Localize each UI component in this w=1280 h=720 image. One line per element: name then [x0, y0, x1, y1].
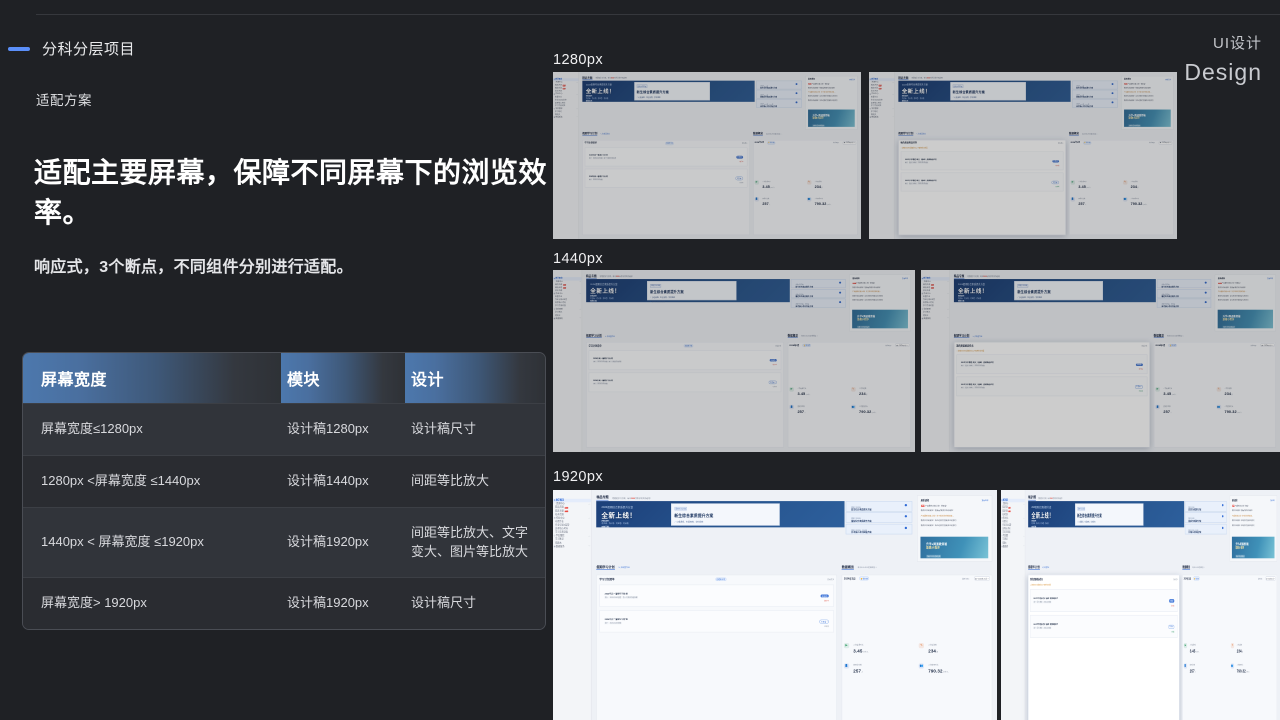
notification-row-2[interactable]: 产品最新功能上线！关于版本的内核功能…	[1232, 514, 1275, 516]
notification-row-2[interactable]: 产品最新功能上线！关于版本的内核功能…	[921, 514, 989, 516]
preview-1440-primary[interactable]: ◈教学概览🗀资源中心︿精品资源限时精选专题限时校本资源▤作业中心︿布置作业作业记…	[553, 270, 915, 452]
notification-row-0[interactable]: NEW产品最新功能上线！快来看！	[808, 83, 855, 85]
notification-row-4[interactable]: 教师节活动来啦！各位老师们!快来各位老师们	[1232, 524, 1275, 526]
grade-select[interactable]: 高一2025年入学﹀	[974, 577, 990, 581]
plan-section-action[interactable]: ✎ 去布置作业	[618, 566, 629, 569]
video-icon: ▶	[1155, 387, 1159, 392]
grade-select[interactable]: 高一2025年入学﹀	[1159, 141, 1172, 144]
app-sidebar[interactable]: ◈教学概览🗀资源中心︿精品资源限时精选专题限时校本资源▤作业中心︿布置作业作业记…	[553, 270, 582, 452]
stat-0: ▶人均看课时长3.45小时/人	[844, 637, 915, 653]
task-meta-item: 2024-11-05创建	[597, 382, 608, 384]
rank-button[interactable]: 🏆排行榜	[1193, 577, 1199, 581]
hero-card-title: 新生综合素质提升方案	[1017, 289, 1100, 294]
hero-card-item-0: ✓心理调适、生涯规划、学科适应	[650, 296, 734, 299]
task-action: 去查看 ›已结束	[736, 173, 744, 184]
overview-month: 2024年3月	[1071, 141, 1081, 144]
sidebar-item-label: 精品资源	[555, 507, 563, 509]
notification-row-0[interactable]: NEW产品最新功能上线！快来看！	[921, 505, 989, 507]
hero-main[interactable]: 2024假期综合素质提升方案全新上线！四有闭环:有资源、有计划、有监管、有反馈网…	[954, 279, 1156, 302]
task-meta: 高一语文（基础）2024-11-05创建	[905, 182, 1049, 184]
notification-row-1[interactable]: 教师节活动来啦！快来看!教师节活动来啦!	[808, 87, 855, 89]
app-sidebar[interactable]: ◈教学概览🗀资源中心︿精品资源限时精选专题限时校本资源▤作业中心︿布置作业作业记…	[1001, 490, 1025, 720]
play-dot-icon	[905, 504, 907, 506]
plan-section-action[interactable]: ✎ 去布置作业	[600, 133, 609, 135]
overview-month: 2024年3月	[1184, 577, 1191, 581]
hero-feature-card[interactable]: 适用于2023级新生综合素质提升方案✓心理调适、生涯规划、学科适应✓高中生活提前…	[634, 82, 710, 100]
hero-main[interactable]: 2024假期综合素质提升方案全新上线！四有闭环:有资源、有计划、有监管、有反馈网…	[1028, 501, 1184, 528]
notification-row-1[interactable]: 教师节活动来啦！快来看!教师节活动来啦!	[852, 286, 908, 288]
task-button[interactable]: 去查看 ›	[1052, 181, 1060, 185]
promo-tag: 功能介绍与使用指南	[1129, 125, 1141, 127]
stat-unit: 人	[1170, 411, 1171, 413]
plan-section-action[interactable]: ✎ 去布置作业	[973, 335, 983, 338]
sidebar-item-13[interactable]: ▦数据服务﹀	[553, 116, 579, 119]
task-meta-item: 高一	[605, 596, 609, 599]
plan-view-more[interactable]: 查看更多	[1142, 345, 1148, 347]
task-row-0[interactable]: 2024年高一暑期学习计划高一2024-11-05创建有一个报告可选择课去创建 …	[585, 147, 748, 166]
task-action: 去挑选 ›未开始	[1169, 594, 1174, 607]
promo-banner[interactable]: 升学e网通教师端助教小程序功能介绍与使用指南	[1124, 109, 1171, 126]
overview-title: 数据概览	[788, 334, 798, 338]
plan-panel-title: 学习计划清单	[589, 344, 602, 347]
plan-view-more[interactable]: 查看更多	[827, 578, 834, 580]
new-badge: NEW	[1218, 282, 1221, 284]
hero-main[interactable]: 2024假期综合素质提升方案全新上线！四有闭环:有资源、有计划、有监管、有反馈网…	[596, 501, 844, 528]
notification-row-3[interactable]: 教师节活动来啦！各位老师们!快来各位老师们	[808, 95, 855, 97]
notifications-view-all[interactable]: 查看全部	[849, 79, 855, 81]
plan-panel-header: 学习计划清单创建新计划查看更多	[589, 344, 782, 347]
plan-view-more[interactable]: 查看更多	[742, 142, 748, 144]
check-icon: ✓	[1017, 301, 1018, 302]
hero-card-item-0: ✓心理调适、生涯规划、学科适应	[953, 96, 1024, 98]
notification-row-4[interactable]: 教师节活动来啦！各位老师们!快来各位老师们	[808, 99, 855, 101]
create-plan-button[interactable]: 创建新计划	[684, 344, 693, 347]
plan-column: 假期学习计划✎ 去布置作业学习计划清单创建新计划查看更多2024年高一暑期学习计…	[582, 132, 749, 235]
plan-header: 假期学习计划✎ 去布置作业	[1028, 565, 1179, 570]
notification-row-1[interactable]: 教师节活动来啦！快来看!教师节活动来啦!	[1232, 510, 1275, 512]
section-label: 适配方案	[36, 89, 548, 109]
hero-card-1[interactable]: 适用于2024级暑假综合素质提升方案	[1157, 289, 1211, 298]
task-button[interactable]: 去查看 ›	[1168, 625, 1174, 629]
hero-feature-card[interactable]: 适用于2023级新生综合素质提升方案✓心理调适、生涯规划、学科适应✓高中生活提前…	[671, 503, 780, 525]
overview-column: 数据概览每天6:00-8:00更新数据 ⓘ2024年3月🏆排行榜选择年级：高一2…	[1182, 565, 1276, 720]
promo-banner[interactable]: 升学e网通教师端助教小程序功能介绍与使用指南	[808, 109, 855, 126]
topic-title: 精品专题	[582, 76, 592, 80]
play-dot-icon	[839, 292, 841, 294]
task-meta-item: 高一	[961, 387, 964, 389]
hero-side-cards: 适用于2023级新生综合素质提升方案适用于2024级暑假综合素质提升方案适用于2…	[756, 80, 802, 102]
hero-card-2[interactable]: 适用于2023级、2024级高考核心考向突破方案	[1072, 99, 1118, 108]
notification-row-0[interactable]: NEW产品最新功能上线！快来看！	[1232, 505, 1275, 507]
task-row-0[interactable]: 2024年高一暑期学习计划高一2024-11-05创建有一个报告可选择课去创建 …	[599, 584, 834, 607]
task-button[interactable]: 去查看 ›	[769, 381, 777, 385]
grade-select-label: 选择年级：	[962, 577, 970, 579]
task-row-0[interactable]: 2024年高一暑期学习计划高一2024-11-05创建有一个报告可选择课去创建 …	[589, 350, 782, 370]
promo-banner[interactable]: 升学e网通教师端助教小程序功能介绍与使用指南	[1232, 537, 1275, 558]
plan-header: 假期学习计划✎ 去布置作业	[954, 334, 1150, 338]
stat-label: 人均答题数	[1237, 643, 1242, 645]
hero-feature-card[interactable]: 适用于2023级新生综合素质提升方案✓心理调适、生涯规划、学科适应✓高中生活提前…	[647, 281, 737, 300]
stat-label: 人均使用时长	[1225, 405, 1234, 407]
notification-row-4[interactable]: 教师节活动来啦！各位老师们!快来各位老师们	[852, 299, 908, 301]
breakpoint-label-1280: 1280px	[553, 52, 603, 68]
stat-unit: 小时/人	[872, 411, 877, 413]
hero-card-2[interactable]: 适用于2023级、2024级高考核心考向突破方案	[1185, 524, 1227, 535]
rank-button[interactable]: 🏆排行榜	[767, 141, 775, 144]
create-plan-button[interactable]: 创建新计划	[665, 142, 674, 145]
grade-select[interactable]: 高一2025年入学﹀	[843, 141, 856, 144]
hero-main[interactable]: 2024假期综合素质提升方案全新上线！四有闭环:有资源、有计划、有监管、有反馈网…	[582, 80, 754, 102]
plan-header: 假期学习计划✎ 去布置作业	[898, 132, 1065, 136]
task-row-0[interactable]: 24-25学年寒假-语文（基础）资源挑选任务高一语文（基础）2024-11-05…	[956, 354, 1147, 374]
sidebar-item-13[interactable]: ▦数据服务﹀	[869, 116, 895, 119]
notifications-view-all[interactable]: 查看全部	[1165, 79, 1171, 81]
hero-card-1[interactable]: 适用于2024级暑假综合素质提升方案	[846, 512, 912, 523]
grade-select[interactable]: 高一2025年入学﹀	[895, 344, 909, 347]
task-row-1[interactable]: 2024年高一暑期学习计划高一2024-11-05创建去查看 ›已结束	[599, 610, 834, 633]
rank-button[interactable]: 🏆排行榜	[859, 577, 869, 581]
preview-1440-secondary[interactable]: ◈教学概览🗀资源中心︿精品资源限时精选专题限时校本资源▤作业中心︿布置作业作业记…	[921, 270, 1280, 452]
overview-header: 数据概览每天6:00-8:00更新数据 ⓘ	[1154, 334, 1276, 338]
notification-row-3[interactable]: 教师节活动来啦！各位老师们!快来各位老师们	[921, 519, 989, 521]
task-button[interactable]: 去挑选 ›	[1169, 599, 1174, 602]
plan-view-more[interactable]: 查看更多	[1058, 142, 1064, 144]
preview-1280-primary[interactable]: ◈教学概览🗀资源中心︿精品资源限时精选专题限时校本资源▤作业中心︿布置作业作业记…	[553, 72, 861, 239]
hero-card-name: 新生综合素质提升方案	[851, 509, 907, 512]
task-button[interactable]: 去挑选 ›	[1053, 160, 1060, 163]
stat-label: 人均答题数	[1225, 388, 1232, 390]
task-status: 已结束	[736, 182, 744, 184]
task-info: 24-25学年寒假-语文（基础）资源挑选任务高一语文（基础）2024-11-05…	[961, 362, 1133, 367]
new-badge: NEW	[808, 83, 811, 85]
overview-stats: ▶人均看课时长3.45小时/人✎人均答题数234题👤使用学生数257人👥人均使用…	[1155, 350, 1274, 446]
hero-card-0[interactable]: 适用于2023级新生综合素质提升方案	[1185, 501, 1227, 512]
sidebar-item-label: 资源中心	[924, 281, 931, 283]
hero-card-0[interactable]: 适用于2023级新生综合素质提升方案	[846, 501, 912, 512]
task-row-0[interactable]: 24-25学年寒假-语文（基础）资源挑选任务高一语文（基础）2024-11-05…	[1030, 589, 1177, 612]
new-badge: NEW	[1232, 505, 1234, 507]
sidebar-item-label: 布置作业	[555, 521, 563, 523]
stat-3: 👥人均使用时长790.32小时/人	[807, 193, 856, 206]
stat-unit: 小时/人	[1237, 411, 1242, 413]
plan-section-action[interactable]: ✎ 去布置作业	[1042, 566, 1049, 569]
overview-column: 数据概览每天6:00-8:00更新数据 ⓘ2024年3月🏆排行榜选择年级：高一2…	[788, 334, 911, 448]
notification-row-4[interactable]: 教师节活动来啦！各位老师们!快来各位老师们	[921, 524, 989, 526]
hero-card-applies-tag: 适用于2023级	[674, 507, 687, 511]
notifications-header: 最新通知查看全部	[852, 277, 908, 280]
stat-unit: 人	[861, 671, 863, 673]
notification-row-1[interactable]: 教师节活动来啦！快来看!教师节活动来啦!	[1124, 87, 1171, 89]
task-meta-item: 2024-11-05创建	[1044, 601, 1052, 604]
promo-banner[interactable]: 升学e网通教师端助教小程序功能介绍与使用指南	[852, 310, 908, 328]
task-row-1[interactable]: 2024年高一暑期学习计划高一2024-11-05创建去查看 ›已结束	[585, 169, 748, 188]
chevron-icon: ︿	[579, 281, 581, 283]
hero-card-0[interactable]: 适用于2023级新生综合素质提升方案	[791, 279, 845, 288]
sidebar-item-label: 学习手册封面	[923, 305, 934, 307]
hero-card-item-0: ✓心理调适、生涯规划、学科适应	[637, 96, 708, 98]
stat-label: 人均看课时长	[853, 643, 863, 645]
breadcrumb: 分科分层项目	[0, 14, 548, 59]
sidebar-item-13[interactable]: ▦数据服务﹀	[1001, 545, 1025, 549]
stat-1: ✎人均答题数234题	[807, 176, 856, 189]
rank-button[interactable]: 🏆排行榜	[803, 344, 811, 347]
hero-banner: 2024假期综合素质提升方案全新上线！四有闭环:有资源、有计划、有监管、有反馈网…	[954, 279, 1211, 302]
hero-banner: 2024假期综合素质提升方案全新上线！四有闭环:有资源、有计划、有监管、有反馈网…	[586, 279, 845, 302]
topic-header: 精品专题寒暑假学习方案，每年3000余所学校共同选用！	[596, 495, 912, 500]
create-plan-button[interactable]: 创建新计划	[716, 577, 727, 581]
hero-card-name: 高考核心考向突破方案	[760, 106, 797, 108]
hero-card-2[interactable]: 适用于2023级、2024级高考核心考向突破方案	[791, 299, 845, 308]
hero-card-2[interactable]: 适用于2023级、2024级高考核心考向突破方案	[756, 99, 802, 108]
notification-row-2[interactable]: 产品最新功能上线！关于版本的内核功能…	[1218, 291, 1273, 293]
notification-row-3[interactable]: 教师节活动来啦！各位老师们!快来各位老师们	[1232, 519, 1275, 521]
task-meta-item: 语文（基础）	[965, 365, 974, 367]
overview-title: 数据概览	[753, 132, 763, 136]
task-action: 去查看 ›已结束	[769, 376, 777, 387]
grade-select-label: 选择年级：	[885, 344, 892, 346]
grade-select-label: 选择年级：	[1258, 577, 1263, 579]
sidebar-item-label: 精选专题	[555, 510, 563, 512]
notifications-title: 最新通知	[1218, 277, 1225, 280]
stat-value: 3.45小时/人	[1078, 184, 1091, 188]
hero-card-0[interactable]: 适用于2023级新生综合素质提升方案	[756, 80, 802, 89]
stat-1: ✎人均答题数234题	[1216, 383, 1274, 397]
chevron-icon: ︿	[576, 82, 578, 84]
overview-header: 数据概览每天6:00-8:00更新数据 ⓘ	[753, 132, 858, 136]
task-row-0[interactable]: 24-25学年寒假-语文（基础）资源挑选任务高一语文（基础）2024-11-05…	[901, 152, 1064, 171]
hero-card-0[interactable]: 适用于2023级新生综合素质提升方案	[1157, 279, 1211, 288]
stat-0: ▶人均看课时长3.45小时/人	[755, 176, 804, 189]
stat-3: 👥人均使用时长790.32小时/人	[1123, 193, 1172, 206]
dashboard-lower: 假期学习计划✎ 去布置作业我的资源挑选任务查看更多⚠您被XXX/XX邀请参与以下…	[954, 334, 1276, 448]
sidebar-badge: 限时	[563, 284, 566, 286]
hero-card-1[interactable]: 适用于2024级暑假综合素质提升方案	[1185, 512, 1227, 523]
page-headline: 适配主要屏幕，保障不同屏幕下的浏览效率。	[34, 153, 548, 233]
stat-value: 234题	[928, 648, 938, 653]
pen-icon: ✎	[807, 180, 811, 184]
app-sidebar[interactable]: ◈教学概览🗀资源中心︿精品资源限时精选专题限时校本资源▤作业中心︿布置作业作业记…	[553, 490, 592, 720]
stat-1: ✎人均答题数234题	[851, 383, 909, 397]
stat-unit: 小时/人	[806, 394, 811, 396]
sidebar-item-label: 布置作业	[1002, 521, 1007, 523]
task-status: 已完成	[1168, 630, 1174, 632]
hero-card-title: 新生综合素质提升方案	[637, 90, 708, 94]
promo-banner[interactable]: 升学e网通教师端助教小程序功能介绍与使用指南	[1218, 310, 1273, 328]
sidebar-item-label: 数据服务	[1003, 546, 1008, 548]
sidebar-item-label: 校本资源	[555, 514, 563, 516]
check-icon: ✓	[637, 101, 638, 102]
task-status: 进行中	[737, 160, 744, 162]
sidebar-item-13[interactable]: ▦数据服务﹀	[921, 317, 949, 320]
hero-feature-card[interactable]: 适用于2023级新生综合素质提升方案✓心理调适、生涯规划、学科适应✓高中生活提前…	[1014, 281, 1103, 300]
cell-screen-width: 屏幕宽度> 1920px	[23, 578, 281, 629]
sidebar-item-label: 错题本	[555, 542, 561, 544]
plan-header: 假期学习计划✎ 去布置作业	[582, 132, 749, 136]
hero-side-cards: 适用于2023级新生综合素质提升方案适用于2024级暑假综合素质提升方案适用于2…	[846, 501, 912, 528]
hero-card-1[interactable]: 适用于2024级暑假综合素质提升方案	[756, 90, 802, 99]
hero-banner: 2024假期综合素质提升方案全新上线！四有闭环:有资源、有计划、有监管、有反馈网…	[596, 501, 912, 528]
task-button[interactable]: 去查看 ›	[820, 620, 829, 624]
hero-card-1[interactable]: 适用于2024级暑假综合素质提升方案	[791, 289, 845, 298]
stat-unit: 题	[866, 394, 868, 396]
topic-subtitle: 寒暑假学习方案，每年3000余所学校共同选用！	[595, 77, 628, 79]
task-info: 24-25学年寒假-语文（基础）资源挑选任务高一语文（基础）2024-11-05…	[961, 384, 1132, 389]
sidebar-item-13[interactable]: ▦数据服务﹀	[553, 317, 582, 320]
task-meta-item: 2024-11-05创建	[918, 182, 928, 184]
task-meta-item: 2024-11-05创建	[974, 365, 984, 367]
task-meta-item: 语文（基础）	[965, 387, 974, 389]
stat-0: ▶人均看课时长3.45小时/人	[1184, 637, 1229, 653]
notification-row-1[interactable]: 教师节活动来啦！快来看!教师节活动来啦!	[1218, 286, 1273, 288]
plan-column: 假期学习计划✎ 去布置作业我的资源挑选任务查看更多⚠您被XXX/XX邀请参与以下…	[954, 334, 1150, 448]
grade-select[interactable]: 高一2025年入学﹀	[1266, 577, 1276, 581]
sidebar-badge: 限时	[878, 85, 881, 87]
task-info: 24-25学年寒假-语文（基础）资源挑选任务高一语文（基础）2024-11-05…	[1033, 598, 1166, 604]
app-sidebar[interactable]: ◈教学概览🗀资源中心︿精品资源限时精选专题限时校本资源▤作业中心︿布置作业作业记…	[921, 270, 950, 452]
notification-row-2[interactable]: 产品最新功能上线！关于版本的内核功能…	[808, 91, 855, 93]
task-meta-item: 高一	[589, 157, 592, 159]
task-info: 2024年高一暑期学习计划高一2024-11-05创建有一个报告可选择课	[593, 358, 766, 363]
hero-card-2[interactable]: 适用于2023级、2024级高考核心考向突破方案	[846, 524, 912, 535]
notification-row-3[interactable]: 教师节活动来啦！各位老师们!快来各位老师们	[1218, 295, 1273, 297]
rank-button[interactable]: 🏆排行榜	[1083, 141, 1091, 144]
chevron-icon: ︿	[947, 309, 949, 311]
video-icon: ▶	[789, 387, 794, 392]
hero-card-name: 高考核心考向突破方案	[795, 306, 840, 308]
stat-unit: 小时/人	[1246, 671, 1250, 673]
app-sidebar[interactable]: ◈教学概览🗀资源中心︿精品资源限时精选专题限时校本资源▤作业中心︿布置作业作业记…	[553, 72, 579, 239]
plan-view-more[interactable]: 查看更多	[775, 345, 781, 347]
plan-view-more[interactable]: 查看更多	[1173, 578, 1177, 580]
notifications-header: 最新通知查看全部	[921, 499, 989, 502]
task-meta-item: 有一个报告可选择课	[608, 360, 621, 362]
task-row-1[interactable]: 24-25学年寒假-语文（基础）资源挑选任务高一语文（基础）2024-11-05…	[956, 377, 1147, 397]
stat-unit: 人	[804, 411, 806, 413]
cell-design: 设计稿尺寸	[405, 404, 545, 456]
stat-value: 257人	[1078, 201, 1086, 205]
new-badge: NEW	[921, 505, 925, 507]
preview-1920-primary[interactable]: ◈教学概览🗀资源中心︿精品资源限时精选专题限时校本资源▤作业中心︿布置作业作业记…	[553, 490, 997, 720]
hero-main[interactable]: 2024假期综合素质提升方案全新上线！四有闭环:有资源、有计划、有监管、有反馈网…	[898, 80, 1070, 102]
warning-icon: ⚠	[1030, 584, 1031, 586]
stat-unit: 人	[1085, 203, 1086, 205]
task-button[interactable]: 去挑选 ›	[1136, 363, 1143, 366]
stat-value: 257人	[1190, 668, 1196, 673]
plan-section-action[interactable]: ✎ 去布置作业	[916, 133, 925, 135]
promo-banner[interactable]: 升学e网通教师端助教小程序功能介绍与使用指南	[921, 537, 989, 558]
cell-design: 间距等比放大	[405, 455, 545, 507]
plan-section-action[interactable]: ✎ 去布置作业	[605, 335, 615, 338]
plan-warning: ⚠您被XXX/XX邀请参与以下假期作业布置	[1030, 584, 1177, 586]
notification-row-3[interactable]: 教师节活动来啦！各位老师们!快来各位老师们	[1124, 95, 1171, 97]
user-icon: 👤	[1071, 197, 1075, 201]
task-button[interactable]: 去创建 ›	[770, 359, 777, 362]
notifications-view-all[interactable]: 查看全部	[1267, 278, 1273, 280]
notification-row-4[interactable]: 教师节活动来啦！各位老师们!快来各位老师们	[1124, 99, 1171, 101]
task-meta-item: 2024-11-05创建	[974, 387, 984, 389]
notification-row-0[interactable]: NEW产品最新功能上线！快来看！	[1218, 282, 1273, 284]
task-meta-item: 语文（基础）	[909, 161, 918, 163]
stat-unit: 题	[1242, 650, 1243, 652]
task-button[interactable]: 去创建 ›	[737, 156, 744, 159]
hero-card-name: 暑假综合素质提升方案	[1188, 520, 1223, 523]
promo-line-2: 助教小程序	[926, 546, 982, 550]
hero-card-title: 新生综合素质提升方案	[953, 90, 1024, 94]
task-status: 已结束	[820, 626, 829, 628]
notification-row-2[interactable]: 产品最新功能上线！关于版本的内核功能…	[1124, 91, 1171, 93]
topic-subtitle: 寒暑假学习方案，每年3000余所学校共同选用！	[1038, 496, 1063, 499]
task-meta-item: 2024-11-05创建	[918, 161, 928, 163]
notification-row-1[interactable]: 教师节活动来啦！快来看!教师节活动来啦!	[921, 510, 989, 512]
task-row-1[interactable]: 2024年高一暑期学习计划高一2024-11-05创建去查看 ›已结束	[589, 372, 782, 392]
sidebar-item-label: 精选专题	[1002, 510, 1007, 512]
notifications-view-all[interactable]: 查看全部	[902, 278, 908, 280]
sidebar-item-label: 学习笔记	[555, 539, 563, 541]
chevron-down-icon: ﹀	[907, 344, 908, 346]
play-dot-icon	[1222, 527, 1223, 529]
notification-row-3[interactable]: 教师节活动来啦！各位老师们!快来各位老师们	[852, 295, 908, 297]
task-info: 2024年高一暑期学习计划高一2024-11-05创建	[605, 618, 816, 624]
hero-feature-card[interactable]: 适用于2023级新生综合素质提升方案✓心理调适、生涯规划、学科适应✓高中生活提前…	[1075, 503, 1144, 525]
notifications-view-all[interactable]: 查看全部	[982, 499, 989, 501]
notifications-view-all[interactable]: 查看全部	[1270, 499, 1274, 501]
stat-unit: 题	[1137, 186, 1138, 188]
preview-1920-secondary[interactable]: ◈教学概览🗀资源中心︿精品资源限时精选专题限时校本资源▤作业中心︿布置作业作业记…	[1001, 490, 1280, 720]
dashboard-mock: ◈教学概览🗀资源中心︿精品资源限时精选专题限时校本资源▤作业中心︿布置作业作业记…	[553, 270, 915, 452]
task-button[interactable]: 去查看 ›	[1135, 385, 1143, 389]
sidebar-item-label: 精品资源	[1002, 507, 1007, 509]
hero-feature-card[interactable]: 适用于2023级新生综合素质提升方案✓心理调适、生涯规划、学科适应✓高中生活提前…	[950, 82, 1026, 100]
rank-button[interactable]: 🏆排行榜	[1169, 344, 1177, 347]
notifications-title: 最新通知	[808, 78, 815, 80]
task-row-1[interactable]: 24-25学年寒假-语文（基础）资源挑选任务高一语文（基础）2024-11-05…	[1030, 615, 1177, 638]
stat-label: 人均使用时长	[928, 664, 938, 666]
hero-card-name: 高考核心考向突破方案	[851, 532, 907, 535]
promo-tag: 功能介绍与使用指南	[813, 125, 825, 127]
task-meta-item: 语文（基础）	[1036, 601, 1043, 604]
task-meta-item: 2024-11-05创建	[593, 157, 603, 159]
notification-row-0[interactable]: NEW产品最新功能上线！快来看！	[852, 282, 908, 284]
stat-unit: 题	[1231, 394, 1232, 396]
users-icon: 👥	[851, 405, 856, 410]
overview-month: 2024年3月	[844, 577, 856, 581]
preview-1280-secondary[interactable]: ◈教学概览🗀资源中心︿精品资源限时精选专题限时校本资源▤作业中心︿布置作业作业记…	[869, 72, 1177, 239]
hero-card-2[interactable]: 适用于2023级、2024级高考核心考向突破方案	[1157, 299, 1211, 308]
app-sidebar[interactable]: ◈教学概览🗀资源中心︿精品资源限时精选专题限时校本资源▤作业中心︿布置作业作业记…	[869, 72, 895, 239]
notifications-title: 最新通知	[1124, 78, 1131, 80]
task-button[interactable]: 去查看 ›	[736, 177, 744, 181]
grade-select[interactable]: 高一2025年入学﹀	[1261, 344, 1275, 347]
hero-card-1[interactable]: 适用于2024级暑假综合素质提升方案	[1072, 90, 1118, 99]
topic-subtitle: 寒暑假学习方案，每年3000余所学校共同选用！	[911, 77, 944, 79]
task-button[interactable]: 去创建 ›	[821, 595, 829, 598]
hero-main[interactable]: 2024假期综合素质提升方案全新上线！四有闭环:有资源、有计划、有监管、有反馈网…	[586, 279, 790, 302]
stat-0: ▶人均看课时长3.45小时/人	[789, 383, 847, 397]
sidebar-item-label: 数据服务	[872, 117, 879, 119]
chevron-icon: ︿	[947, 293, 949, 295]
hero-card-applies-tag: 适用于2023级	[637, 85, 647, 88]
task-row-1[interactable]: 24-25学年寒假-语文（基础）资源挑选任务高一语文（基础）2024-11-05…	[901, 173, 1064, 192]
notification-row-0[interactable]: NEW产品最新功能上线！快来看！	[1124, 83, 1171, 85]
sidebar-item-13[interactable]: ▦数据服务﹀	[553, 545, 591, 549]
topic-subtitle: 寒暑假学习方案，每年3000余所学校共同选用！	[600, 275, 634, 278]
notification-row-2[interactable]: 产品最新功能上线！关于版本的内核功能…	[852, 291, 908, 293]
check-icon: ✓	[953, 96, 954, 98]
overview-title: 数据概览	[842, 565, 854, 570]
hero-card-0[interactable]: 适用于2023级新生综合素质提升方案	[1072, 80, 1118, 89]
task-action: 去创建 ›进行中	[770, 354, 777, 365]
notification-row-4[interactable]: 教师节活动来啦！各位老师们!快来各位老师们	[1218, 299, 1273, 301]
